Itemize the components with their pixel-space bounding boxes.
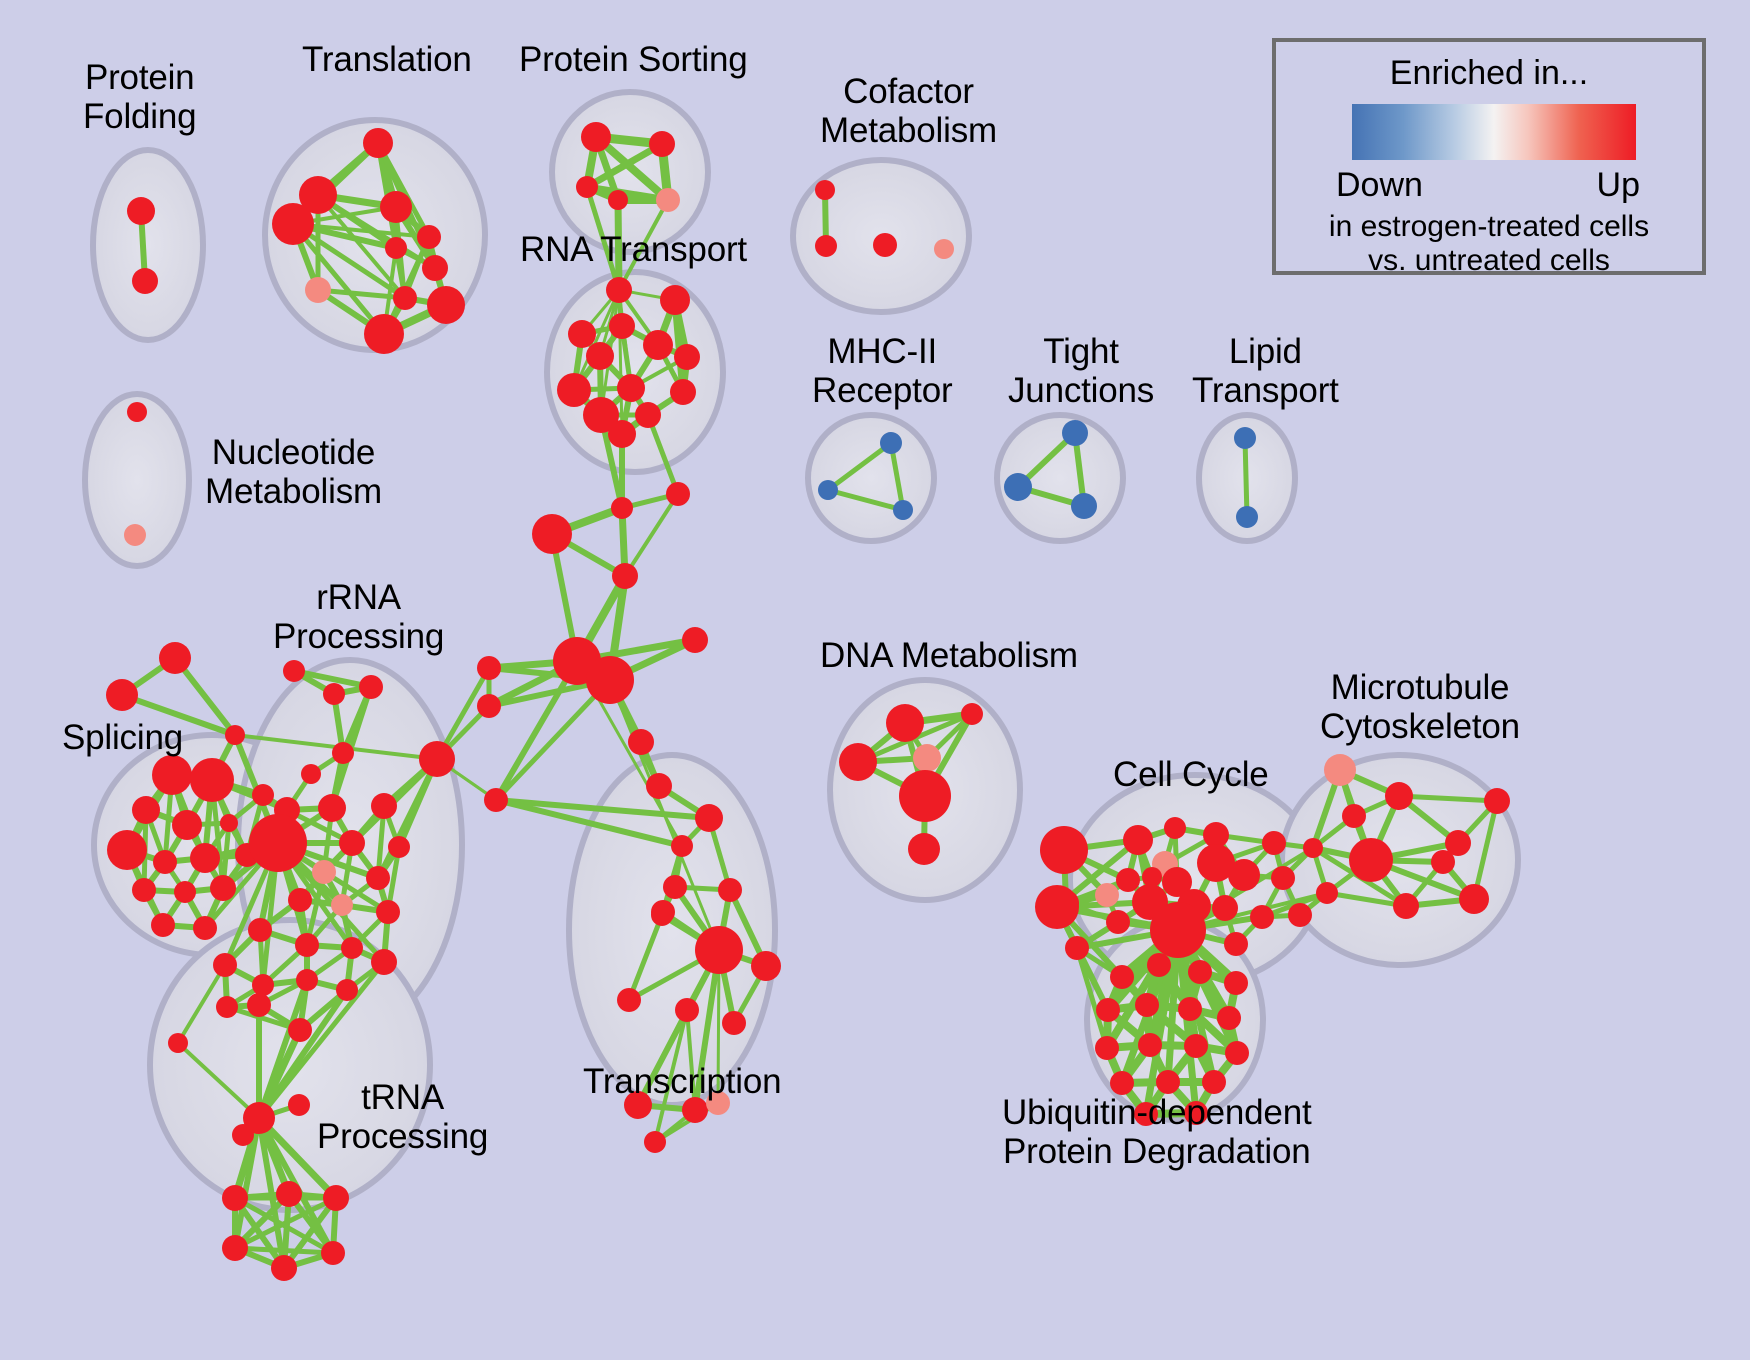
network-node[interactable] (153, 850, 177, 874)
network-node[interactable] (339, 830, 365, 856)
network-node[interactable] (663, 875, 687, 899)
network-node[interactable] (1188, 960, 1212, 984)
network-node[interactable] (422, 255, 448, 281)
network-node[interactable] (1142, 867, 1162, 887)
cluster-label-line: Processing (317, 1117, 488, 1156)
network-node[interactable] (873, 233, 897, 257)
network-node[interactable] (568, 320, 596, 348)
network-edge (1245, 438, 1247, 517)
cluster-label-line: Cell Cycle (1113, 755, 1269, 794)
network-node[interactable] (1393, 893, 1419, 919)
network-node[interactable] (1316, 882, 1338, 904)
network-node[interactable] (1324, 754, 1356, 786)
cluster-label-line: Microtubule (1320, 668, 1520, 707)
network-node[interactable] (288, 888, 312, 912)
network-node[interactable] (913, 744, 941, 772)
network-node[interactable] (1262, 831, 1286, 855)
cluster-label-line: Splicing (62, 718, 183, 757)
network-node[interactable] (649, 131, 675, 157)
network-node[interactable] (557, 373, 591, 407)
network-node[interactable] (815, 235, 837, 257)
cluster-label-line: RNA Transport (520, 230, 747, 269)
cluster-label-line: Protein (83, 58, 196, 97)
cluster-label-lipid-transport: LipidTransport (1192, 332, 1339, 410)
network-node[interactable] (1116, 868, 1140, 892)
network-node[interactable] (332, 742, 354, 764)
network-node[interactable] (190, 843, 220, 873)
network-node[interactable] (1150, 902, 1206, 958)
network-node[interactable] (1035, 885, 1079, 929)
network-node[interactable] (484, 788, 508, 812)
network-node[interactable] (1224, 932, 1248, 956)
legend-down-label: Down (1336, 166, 1423, 205)
network-node[interactable] (651, 900, 675, 924)
network-node[interactable] (722, 1011, 746, 1035)
network-node[interactable] (1071, 493, 1097, 519)
cluster-label-line: Protein Sorting (519, 40, 748, 79)
network-node[interactable] (1234, 427, 1256, 449)
network-node[interactable] (1062, 420, 1088, 446)
network-node[interactable] (152, 755, 192, 795)
network-node[interactable] (271, 1255, 297, 1281)
network-node[interactable] (1004, 473, 1032, 501)
network-node[interactable] (893, 500, 913, 520)
network-node[interactable] (427, 286, 465, 324)
cluster-label-line: Transcription (583, 1062, 781, 1101)
network-node[interactable] (174, 881, 196, 903)
network-node[interactable] (586, 342, 614, 370)
network-node[interactable] (225, 725, 245, 745)
network-node[interactable] (222, 1235, 248, 1261)
network-node[interactable] (646, 773, 672, 799)
cluster-label-microtubule-cytoskeleton: MicrotubuleCytoskeleton (1320, 668, 1520, 746)
network-node[interactable] (288, 1094, 310, 1116)
network-node[interactable] (312, 860, 336, 884)
network-node[interactable] (376, 900, 400, 924)
network-node[interactable] (132, 796, 160, 824)
network-node[interactable] (576, 176, 598, 198)
network-node[interactable] (364, 314, 404, 354)
network-node[interactable] (252, 784, 274, 806)
network-node[interactable] (1303, 838, 1323, 858)
network-node[interactable] (612, 563, 638, 589)
network-node[interactable] (1250, 905, 1274, 929)
network-node[interactable] (628, 729, 654, 755)
network-node[interactable] (249, 814, 307, 872)
legend-title: Enriched in... (1276, 54, 1702, 93)
cluster-label-protein-folding: ProteinFolding (83, 58, 196, 136)
network-node[interactable] (1156, 1070, 1180, 1094)
cluster-label-line: Folding (83, 97, 196, 136)
network-node[interactable] (586, 656, 634, 704)
network-node[interactable] (363, 128, 393, 158)
network-node[interactable] (359, 675, 383, 699)
network-node[interactable] (608, 190, 628, 210)
network-node[interactable] (1202, 1070, 1226, 1094)
network-node[interactable] (666, 482, 690, 506)
network-node[interactable] (248, 918, 272, 942)
network-node[interactable] (132, 268, 158, 294)
network-node[interactable] (1224, 971, 1248, 995)
cluster-label-line: Metabolism (820, 111, 997, 150)
network-node[interactable] (670, 379, 696, 405)
network-node[interactable] (899, 770, 951, 822)
network-node[interactable] (276, 1181, 302, 1207)
cluster-label-cofactor-metabolism: CofactorMetabolism (820, 72, 997, 150)
network-node[interactable] (106, 679, 138, 711)
cluster-ellipse-rna-transport[interactable] (547, 272, 723, 472)
network-node[interactable] (247, 993, 271, 1017)
network-node[interactable] (388, 836, 410, 858)
network-node[interactable] (220, 814, 238, 832)
network-node[interactable] (818, 480, 838, 500)
network-node[interactable] (222, 1185, 248, 1211)
network-node[interactable] (190, 758, 234, 802)
cluster-label-nucleotide-metabolism: NucleotideMetabolism (205, 433, 382, 511)
network-node[interactable] (1459, 884, 1489, 914)
network-node[interactable] (168, 1033, 188, 1053)
network-node[interactable] (1349, 838, 1393, 882)
network-node[interactable] (839, 743, 877, 781)
network-node[interactable] (301, 764, 321, 784)
network-node[interactable] (1484, 788, 1510, 814)
network-node[interactable] (380, 191, 412, 223)
cluster-label-line: Cofactor (820, 72, 997, 111)
network-node[interactable] (151, 913, 175, 937)
enrichment-network-figure: ProteinFoldingTranslationNucleotideMetab… (0, 0, 1750, 1360)
network-node[interactable] (1178, 997, 1202, 1021)
network-node[interactable] (718, 878, 742, 902)
cluster-label-line: tRNA (317, 1078, 488, 1117)
network-node[interactable] (296, 969, 318, 991)
network-node[interactable] (127, 402, 147, 422)
network-node[interactable] (609, 313, 635, 339)
cluster-label-line: rRNA (273, 578, 444, 617)
network-node[interactable] (635, 402, 661, 428)
cluster-ellipse-mhc-ii-receptor[interactable] (808, 415, 934, 541)
cluster-label-line: Lipid (1192, 332, 1339, 371)
network-node[interactable] (216, 996, 238, 1018)
cluster-label-protein-sorting: Protein Sorting (519, 40, 748, 79)
cluster-label-line: Transport (1192, 371, 1339, 410)
network-node[interactable] (532, 514, 572, 554)
cluster-label-ubiquitin-protein-degradation: Ubiquitin-dependentProtein Degradation (1002, 1093, 1312, 1171)
cluster-label-transcription: Transcription (583, 1062, 781, 1101)
network-node[interactable] (961, 703, 983, 725)
network-node[interactable] (477, 694, 501, 718)
network-node[interactable] (1110, 1071, 1134, 1095)
network-node[interactable] (934, 239, 954, 259)
network-node[interactable] (660, 285, 690, 315)
network-node[interactable] (880, 432, 902, 454)
legend-box: Enriched in... Down Up in estrogen-treat… (1272, 38, 1706, 275)
cluster-label-mhc-ii-receptor: MHC-IIReceptor (812, 332, 952, 410)
network-node[interactable] (695, 926, 743, 974)
network-node[interactable] (1236, 506, 1258, 528)
network-node[interactable] (1040, 826, 1088, 874)
legend-subtitle-line2: vs. untreated cells (1276, 244, 1702, 278)
cluster-label-line: Processing (273, 617, 444, 656)
network-node[interactable] (1342, 804, 1366, 828)
network-node[interactable] (107, 830, 147, 870)
network-node[interactable] (611, 497, 633, 519)
legend-subtitle-line1: in estrogen-treated cells (1276, 210, 1702, 244)
network-node[interactable] (886, 704, 924, 742)
network-node[interactable] (671, 835, 693, 857)
network-node[interactable] (1147, 953, 1171, 977)
cluster-label-line: Ubiquitin-dependent (1002, 1093, 1312, 1132)
network-node[interactable] (213, 953, 237, 977)
network-node[interactable] (1106, 910, 1130, 934)
network-node[interactable] (331, 894, 353, 916)
network-node[interactable] (232, 1124, 254, 1146)
network-node[interactable] (341, 937, 363, 959)
network-node[interactable] (617, 988, 641, 1012)
cluster-label-line: Nucleotide (205, 433, 382, 472)
network-node[interactable] (371, 949, 397, 975)
network-node[interactable] (371, 793, 397, 819)
network-node[interactable] (1228, 859, 1260, 891)
network-node[interactable] (1138, 1033, 1162, 1057)
network-node[interactable] (606, 277, 632, 303)
network-node[interactable] (581, 122, 611, 152)
cluster-label-dna-metabolism: DNA Metabolism (820, 636, 1078, 675)
legend-up-label: Up (1597, 166, 1640, 205)
cluster-label-line: Tight (1008, 332, 1154, 371)
network-node[interactable] (336, 979, 358, 1001)
network-node[interactable] (751, 951, 781, 981)
network-node[interactable] (127, 197, 155, 225)
network-node[interactable] (417, 225, 441, 249)
network-node[interactable] (1217, 1006, 1241, 1030)
cluster-label-translation: Translation (302, 40, 472, 79)
cluster-label-trna-processing: tRNAProcessing (317, 1078, 488, 1156)
network-node[interactable] (644, 1131, 666, 1153)
network-node[interactable] (1184, 1034, 1208, 1058)
network-node[interactable] (295, 933, 319, 957)
network-node[interactable] (695, 804, 723, 832)
network-node[interactable] (1065, 936, 1089, 960)
cluster-label-line: Receptor (812, 371, 952, 410)
network-node[interactable] (323, 683, 345, 705)
network-node[interactable] (908, 833, 940, 865)
cluster-ellipse-protein-folding[interactable] (93, 150, 203, 340)
network-node[interactable] (477, 656, 501, 680)
cluster-label-cell-cycle: Cell Cycle (1113, 755, 1269, 794)
network-node[interactable] (617, 374, 645, 402)
network-node[interactable] (1385, 782, 1413, 810)
cluster-label-line: DNA Metabolism (820, 636, 1078, 675)
network-node[interactable] (1288, 903, 1312, 927)
network-node[interactable] (656, 188, 680, 212)
network-node[interactable] (210, 875, 236, 901)
network-node[interactable] (393, 286, 417, 310)
legend-color-gradient-bar (1352, 104, 1636, 160)
cluster-label-rrna-processing: rRNAProcessing (273, 578, 444, 656)
network-node[interactable] (1225, 1041, 1249, 1065)
network-node[interactable] (318, 794, 346, 822)
network-node[interactable] (1271, 866, 1295, 890)
network-node[interactable] (1135, 993, 1159, 1017)
cluster-label-rna-transport: RNA Transport (520, 230, 747, 269)
network-node[interactable] (288, 1018, 312, 1042)
cluster-label-line: MHC-II (812, 332, 952, 371)
network-node[interactable] (682, 627, 708, 653)
network-node[interactable] (675, 998, 699, 1022)
network-node[interactable] (1445, 830, 1471, 856)
cluster-label-line: Metabolism (205, 472, 382, 511)
network-node[interactable] (385, 237, 407, 259)
network-node[interactable] (1110, 965, 1134, 989)
network-node[interactable] (321, 1241, 345, 1265)
network-node[interactable] (193, 916, 217, 940)
network-node[interactable] (272, 203, 314, 245)
cluster-label-line: Protein Degradation (1002, 1132, 1312, 1171)
network-node[interactable] (1164, 817, 1186, 839)
network-node[interactable] (159, 642, 191, 674)
cluster-label-line: Cytoskeleton (1320, 707, 1520, 746)
network-node[interactable] (608, 420, 636, 448)
cluster-label-line: Junctions (1008, 371, 1154, 410)
network-node[interactable] (1096, 998, 1120, 1022)
network-node[interactable] (252, 974, 274, 996)
network-node[interactable] (419, 741, 455, 777)
network-node[interactable] (132, 878, 156, 902)
cluster-label-splicing: Splicing (62, 718, 183, 757)
network-node[interactable] (815, 180, 835, 200)
network-node[interactable] (283, 660, 305, 682)
network-node[interactable] (1123, 825, 1153, 855)
network-node[interactable] (1095, 1036, 1119, 1060)
network-node[interactable] (674, 344, 700, 370)
network-node[interactable] (1095, 883, 1119, 907)
network-node[interactable] (366, 866, 390, 890)
network-node[interactable] (305, 277, 331, 303)
network-node[interactable] (124, 524, 146, 546)
network-node[interactable] (643, 330, 673, 360)
cluster-label-line: Translation (302, 40, 472, 79)
network-node[interactable] (172, 810, 202, 840)
network-node[interactable] (323, 1185, 349, 1211)
cluster-label-tight-junctions: TightJunctions (1008, 332, 1154, 410)
network-node[interactable] (1212, 895, 1238, 921)
